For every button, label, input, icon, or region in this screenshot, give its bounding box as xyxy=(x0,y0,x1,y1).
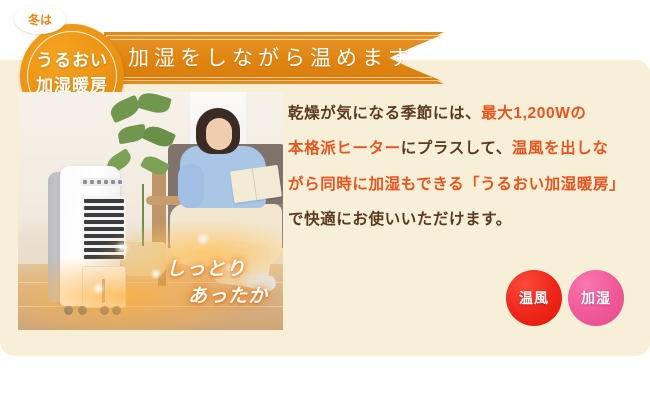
heater-button xyxy=(90,180,94,184)
photo-woman-face xyxy=(206,118,232,150)
feature-badge-humidify-label: 加湿 xyxy=(581,288,611,308)
copy-line-2: 本格派ヒーターにプラスして、温風を出しな xyxy=(288,139,638,158)
ribbon-bottom-rule xyxy=(110,77,432,78)
copy-line2-highlight: 本格派ヒーター xyxy=(288,140,401,157)
photo-woman-arm xyxy=(178,164,204,208)
photo-plant-pot xyxy=(122,242,166,276)
handwritten-line1: しっとり xyxy=(166,259,246,280)
body-copy: 乾燥が気になる季節には、最大1,200Wの 本格派ヒーターにプラスして、温風を出… xyxy=(288,104,638,230)
advertisement-banner: 加湿をしながら温めます うるおい 加湿暖房 冬は xyxy=(0,0,650,400)
heater-button xyxy=(97,180,101,184)
copy-line-3: がら同時に加湿もできる「うるおい加湿暖房」 xyxy=(288,175,638,194)
handwritten-line2: あったか xyxy=(166,283,284,310)
heater-caster xyxy=(112,306,121,315)
heater-caster xyxy=(64,306,73,315)
heater-body xyxy=(60,166,120,306)
heater-water-tank xyxy=(82,266,126,308)
heater-louver-grill xyxy=(82,196,126,260)
copy-line2-plain: にプラスして、 xyxy=(401,140,512,157)
copy-line4-plain: で快適にお使いいただけます。 xyxy=(288,211,512,228)
heater-water-gauge xyxy=(102,279,105,303)
season-bubble: 冬は xyxy=(14,4,66,34)
photo-heater-unit xyxy=(48,158,128,316)
headline-text: 加湿をしながら温めます xyxy=(128,41,428,77)
copy-line2-highlight2: 温風を出しな xyxy=(512,140,609,157)
feature-badge-humidify: 加湿 xyxy=(568,270,624,326)
copy-line1-plain: 乾燥が気になる季節には、 xyxy=(288,105,481,122)
season-bubble-label: 冬は xyxy=(28,11,52,28)
copy-line1-highlight: 最大1,200Wの xyxy=(481,105,586,122)
feature-badge-warm-air-label: 温風 xyxy=(519,288,549,308)
heater-button xyxy=(104,180,108,184)
handwritten-caption: しっとり あったか xyxy=(166,256,284,314)
rosette-label: うるおい 加湿暖房 xyxy=(20,48,124,98)
photo-book xyxy=(230,165,282,203)
copy-line-1: 乾燥が気になる季節には、最大1,200Wの xyxy=(288,104,638,123)
rosette-label-line1: うるおい xyxy=(20,48,124,73)
ribbon-top-rule xyxy=(110,39,432,40)
heater-caster xyxy=(100,306,109,315)
copy-line3-highlight: がら同時に加湿もできる「うるおい加湿暖房」 xyxy=(288,176,625,193)
heater-button xyxy=(111,180,115,184)
heater-button xyxy=(83,180,87,184)
photo-plant-stem xyxy=(142,184,144,246)
heater-button xyxy=(118,180,122,184)
heater-caster xyxy=(78,306,87,315)
copy-line-4: で快適にお使いいただけます。 xyxy=(288,210,638,229)
feature-badge-warm-air: 温風 xyxy=(506,270,562,326)
